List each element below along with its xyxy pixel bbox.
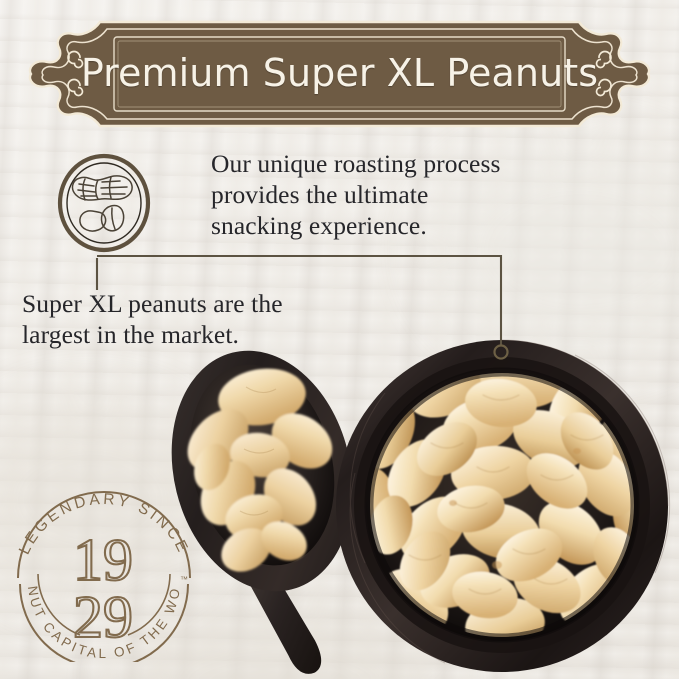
heritage-seal: LEGENDARY SINCE PEANUT CAPITAL OF THE WO… bbox=[8, 482, 198, 662]
callout-line: provides the ultimate bbox=[211, 179, 611, 210]
product-image: Premium Super XL Peanuts bbox=[0, 0, 679, 679]
callout-largest-in-market: Super XL peanuts are the largest in the … bbox=[22, 288, 422, 350]
callout-line: snacking experience. bbox=[211, 210, 611, 241]
seal-year-bottom: 29 bbox=[73, 584, 133, 650]
peanut-icon bbox=[57, 153, 151, 253]
bowl-of-peanuts bbox=[325, 333, 679, 679]
title-plaque: Premium Super XL Peanuts bbox=[14, 18, 665, 130]
seal-trademark: ™ bbox=[180, 575, 188, 584]
seal-year: 19 29 bbox=[73, 527, 133, 650]
page-title: Premium Super XL Peanuts bbox=[14, 18, 665, 130]
callout-roasting-process: Our unique roasting process provides the… bbox=[211, 148, 611, 241]
peanut-badge bbox=[57, 153, 151, 253]
callout-line: Our unique roasting process bbox=[211, 148, 611, 179]
callout-line: largest in the market. bbox=[22, 319, 422, 350]
callout-line: Super XL peanuts are the bbox=[22, 288, 422, 319]
